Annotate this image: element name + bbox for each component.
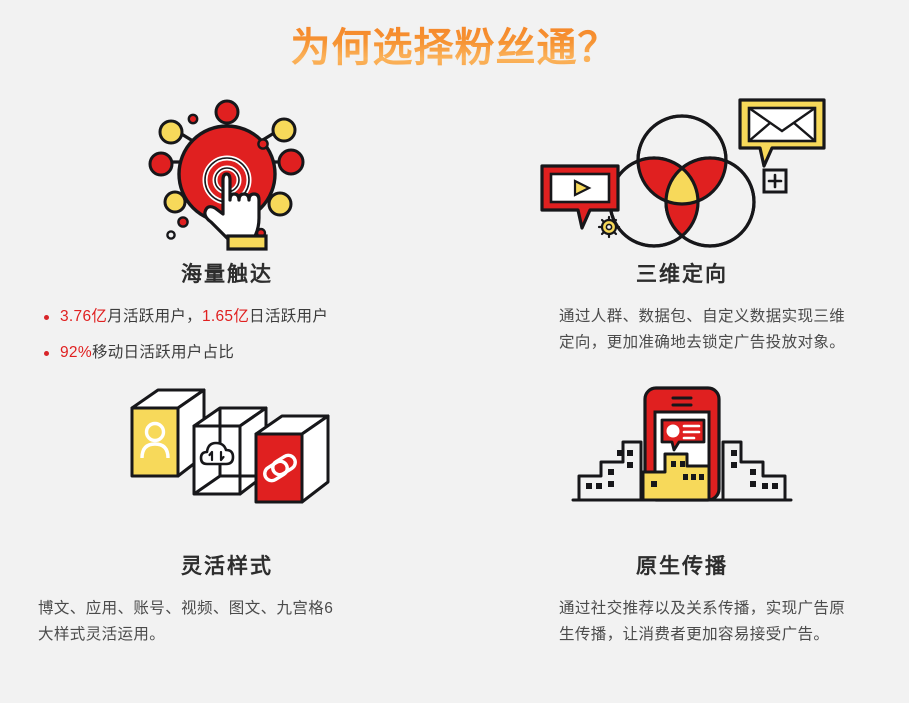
plus-icon (764, 170, 786, 192)
stat-mobile-share-label: 移动日活跃用户占比 (92, 344, 234, 361)
page-title: 为何选择粉丝通？ (0, 24, 909, 72)
feature-description-flexible-formats: 博文、应用、账号、视频、图文、九宫格6大样式灵活运用。 (38, 596, 348, 648)
gear-icon (599, 217, 619, 237)
feature-description-three-dimensional-targeting: 通过人群、数据包、自定义数据实现三维定向，更加准确地去锁定广告投放对象。 (559, 304, 851, 356)
three-cubes-icon (0, 380, 454, 548)
feature-card-massive-reach: 海量触达 3.76亿月活跃用户，1.65亿日活跃用户 92%移动日活跃用户占比 (0, 88, 454, 388)
feature-description-native-spread: 通过社交推荐以及关系传播，实现广告原生传播，让消费者更加容易接受广告。 (559, 596, 851, 648)
video-bubble (542, 166, 618, 228)
feature-card-three-dimensional-targeting: 三维定向 通过人群、数据包、自定义数据实现三维定向，更加准确地去锁定广告投放对象… (455, 88, 909, 388)
feature-card-native-spread: 原生传播 通过社交推荐以及关系传播，实现广告原生传播，让消费者更加容易接受广告。 (455, 380, 909, 680)
feature-title-three-dimensional-targeting: 三维定向 (455, 262, 909, 288)
venn-targeting-icon (455, 88, 909, 256)
lightbulb-hand-icon (0, 88, 454, 256)
phone-city-icon (455, 380, 909, 548)
list-item: 3.76亿月活跃用户，1.65亿日活跃用户 (42, 304, 342, 330)
feature-title-flexible-formats: 灵活样式 (0, 554, 454, 580)
stat-mau-label: 月活跃用户， (107, 308, 202, 325)
stat-dau: 1.65亿 (202, 308, 249, 325)
massive-reach-bullet-list: 3.76亿月活跃用户，1.65亿日活跃用户 92%移动日活跃用户占比 (42, 304, 342, 366)
stat-mau: 3.76亿 (60, 308, 107, 325)
feature-grid: 海量触达 3.76亿月活跃用户，1.65亿日活跃用户 92%移动日活跃用户占比 (0, 88, 909, 703)
list-item: 92%移动日活跃用户占比 (42, 340, 342, 366)
feature-title-massive-reach: 海量触达 (0, 262, 454, 288)
feature-title-native-spread: 原生传播 (455, 554, 909, 580)
stat-dau-label: 日活跃用户 (249, 308, 328, 325)
mail-bubble (740, 100, 824, 166)
feature-card-flexible-formats: 灵活样式 博文、应用、账号、视频、图文、九宫格6大样式灵活运用。 (0, 380, 454, 680)
stat-mobile-share: 92% (60, 344, 92, 361)
